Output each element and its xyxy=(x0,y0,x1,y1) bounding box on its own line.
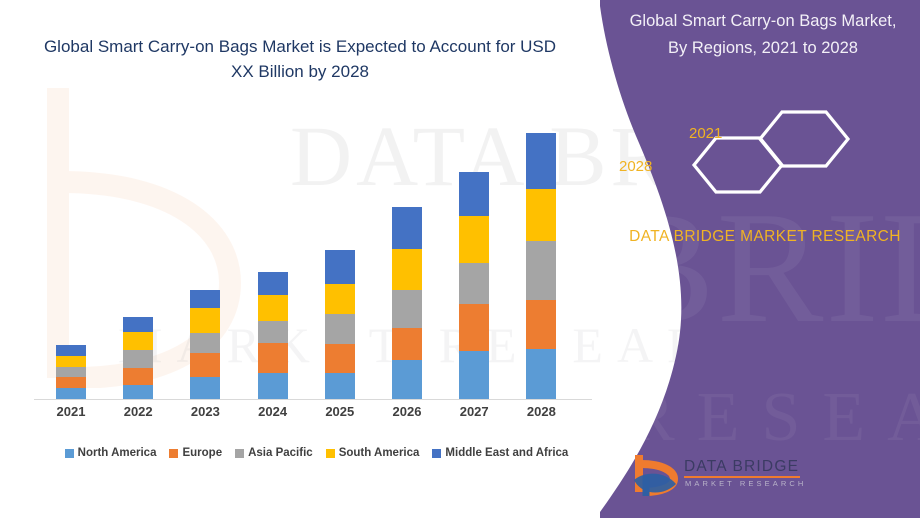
bar-segment-middle-east-and-africa[interactable] xyxy=(459,172,489,216)
hexagon-outline-2028 xyxy=(694,138,782,192)
bar-segment-middle-east-and-africa[interactable] xyxy=(190,290,220,308)
side-panel-background xyxy=(600,0,920,518)
bar-group xyxy=(34,110,592,399)
bar-2026[interactable] xyxy=(392,207,422,399)
x-label-2022: 2022 xyxy=(108,404,168,419)
x-label-2028: 2028 xyxy=(511,404,571,419)
bar-2021[interactable] xyxy=(56,345,86,399)
legend-item-north-america[interactable]: North America xyxy=(65,447,157,459)
x-label-2023: 2023 xyxy=(175,404,235,419)
hexagon-label-2021: 2021 xyxy=(689,125,722,142)
legend-label: South America xyxy=(339,447,420,459)
side-panel-title: Global Smart Carry-on Bags Market, By Re… xyxy=(620,8,906,62)
bar-segment-middle-east-and-africa[interactable] xyxy=(526,133,556,189)
bar-segment-asia-pacific[interactable] xyxy=(459,263,489,304)
legend-swatch-icon xyxy=(65,449,74,458)
bar-segment-south-america[interactable] xyxy=(459,216,489,263)
bar-2027[interactable] xyxy=(459,172,489,399)
bar-segment-middle-east-and-africa[interactable] xyxy=(392,207,422,249)
bar-segment-middle-east-and-africa[interactable] xyxy=(123,317,153,332)
legend-item-middle-east-and-africa[interactable]: Middle East and Africa xyxy=(432,447,568,459)
bar-segment-asia-pacific[interactable] xyxy=(190,333,220,353)
bar-segment-asia-pacific[interactable] xyxy=(526,241,556,300)
chart-title: Global Smart Carry-on Bags Market is Exp… xyxy=(40,34,560,84)
legend-label: Asia Pacific xyxy=(248,447,313,459)
bar-segment-asia-pacific[interactable] xyxy=(392,290,422,328)
legend-swatch-icon xyxy=(432,449,441,458)
bar-segment-south-america[interactable] xyxy=(56,356,86,367)
x-axis-tick-labels: 20212022202320242025202620272028 xyxy=(34,404,594,426)
chart-legend: North AmericaEuropeAsia PacificSouth Ame… xyxy=(34,443,599,463)
logo-title: DATA BRIDGE xyxy=(684,458,799,476)
bar-segment-europe[interactable] xyxy=(190,353,220,377)
x-label-2025: 2025 xyxy=(310,404,370,419)
logo-divider xyxy=(684,476,800,478)
hexagon-pair xyxy=(678,108,898,198)
legend-item-south-america[interactable]: South America xyxy=(326,447,420,459)
bar-segment-asia-pacific[interactable] xyxy=(123,350,153,368)
bar-segment-south-america[interactable] xyxy=(258,295,288,321)
x-axis-line xyxy=(34,399,592,400)
bar-segment-north-america[interactable] xyxy=(56,388,86,399)
bar-segment-north-america[interactable] xyxy=(459,351,489,399)
bar-segment-north-america[interactable] xyxy=(325,373,355,399)
bar-segment-europe[interactable] xyxy=(459,304,489,351)
bar-segment-asia-pacific[interactable] xyxy=(56,367,86,377)
legend-item-asia-pacific[interactable]: Asia Pacific xyxy=(235,447,313,459)
legend-label: Europe xyxy=(182,447,222,459)
side-panel: BRIDGE RESEARCH Global Smart Carry-on Ba… xyxy=(600,0,920,518)
bar-segment-asia-pacific[interactable] xyxy=(325,314,355,344)
bar-segment-middle-east-and-africa[interactable] xyxy=(325,250,355,284)
bar-2022[interactable] xyxy=(123,317,153,399)
bar-2023[interactable] xyxy=(190,290,220,399)
hexagon-label-2028: 2028 xyxy=(619,158,652,175)
bar-segment-europe[interactable] xyxy=(392,328,422,360)
x-label-2021: 2021 xyxy=(41,404,101,419)
legend-swatch-icon xyxy=(326,449,335,458)
bar-segment-north-america[interactable] xyxy=(526,349,556,399)
legend-label: North America xyxy=(78,447,157,459)
bar-segment-south-america[interactable] xyxy=(325,284,355,314)
bar-segment-north-america[interactable] xyxy=(258,373,288,399)
legend-item-europe[interactable]: Europe xyxy=(169,447,222,459)
logo-subtitle: MARKET RESEARCH xyxy=(685,479,806,488)
bar-segment-north-america[interactable] xyxy=(392,360,422,399)
company-logo: DATA BRIDGE MARKET RESEARCH xyxy=(632,450,822,502)
bar-segment-north-america[interactable] xyxy=(190,377,220,399)
bar-segment-middle-east-and-africa[interactable] xyxy=(258,272,288,295)
x-label-2027: 2027 xyxy=(444,404,504,419)
plot-area xyxy=(34,110,594,400)
x-label-2024: 2024 xyxy=(243,404,303,419)
bar-segment-south-america[interactable] xyxy=(190,308,220,333)
hexagon-outline-2021 xyxy=(760,112,848,166)
bar-segment-north-america[interactable] xyxy=(123,385,153,399)
bar-segment-south-america[interactable] xyxy=(123,332,153,350)
logo-mark-icon xyxy=(632,452,680,498)
bar-2024[interactable] xyxy=(258,272,288,399)
bar-segment-europe[interactable] xyxy=(325,344,355,373)
bar-segment-asia-pacific[interactable] xyxy=(258,321,288,343)
x-label-2026: 2026 xyxy=(377,404,437,419)
bar-2028[interactable] xyxy=(526,133,556,399)
bar-2025[interactable] xyxy=(325,250,355,399)
bar-segment-europe[interactable] xyxy=(258,343,288,373)
panel-brand-name: DATA BRIDGE MARKET RESEARCH xyxy=(620,224,910,249)
legend-label: Middle East and Africa xyxy=(445,447,568,459)
bar-segment-europe[interactable] xyxy=(526,300,556,349)
legend-swatch-icon xyxy=(169,449,178,458)
bar-segment-south-america[interactable] xyxy=(392,249,422,290)
bar-segment-south-america[interactable] xyxy=(526,189,556,241)
chart-canvas: DATA BRIDGE MARKET RESEARCH Global Smart… xyxy=(0,0,920,518)
legend-swatch-icon xyxy=(235,449,244,458)
bar-segment-middle-east-and-africa[interactable] xyxy=(56,345,86,356)
bar-segment-europe[interactable] xyxy=(123,368,153,385)
bar-segment-europe[interactable] xyxy=(56,377,86,388)
